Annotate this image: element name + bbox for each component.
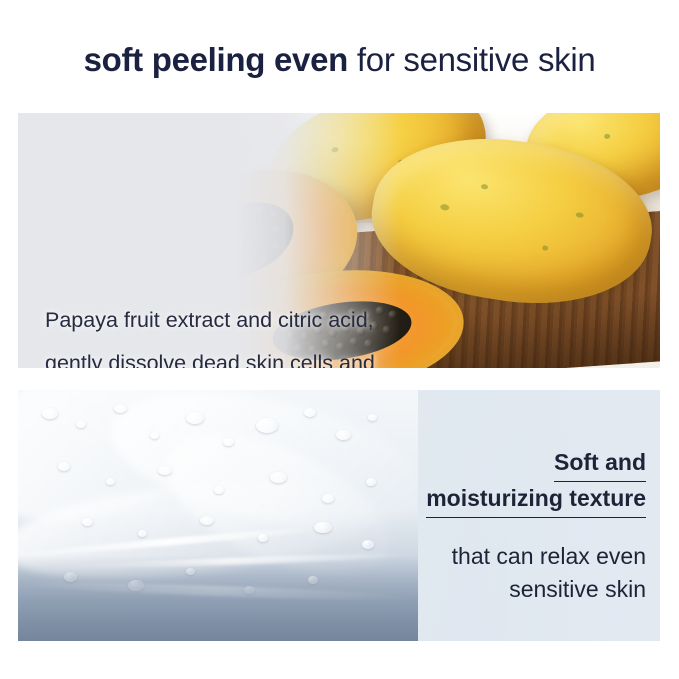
papaya-copy-line-2: gently dissolve dead skin cells and — [45, 348, 392, 368]
papaya-benefit-panel: Papaya fruit extract and citric acid, ge… — [18, 113, 660, 368]
page-title-bold: soft peeling even — [84, 41, 348, 78]
gel-copy-body-2: sensitive skin — [426, 573, 646, 606]
page-title-regular: for sensitive skin — [348, 41, 595, 78]
gel-photo — [18, 390, 418, 641]
page-title: soft peeling even for sensitive skin — [0, 40, 679, 80]
papaya-copy-block: Papaya fruit extract and citric acid, ge… — [45, 305, 392, 368]
gel-copy-block: Soft and moisturizing texture that can r… — [426, 446, 646, 606]
papaya-copy-line-1: Papaya fruit extract and citric acid, — [45, 305, 392, 336]
gel-bottom-shadow — [18, 555, 418, 641]
gel-copy-body-1: that can relax even — [426, 540, 646, 573]
gel-copy-headline-2: moisturizing texture — [426, 482, 646, 518]
gel-copy-headline-1: Soft and — [554, 446, 646, 482]
